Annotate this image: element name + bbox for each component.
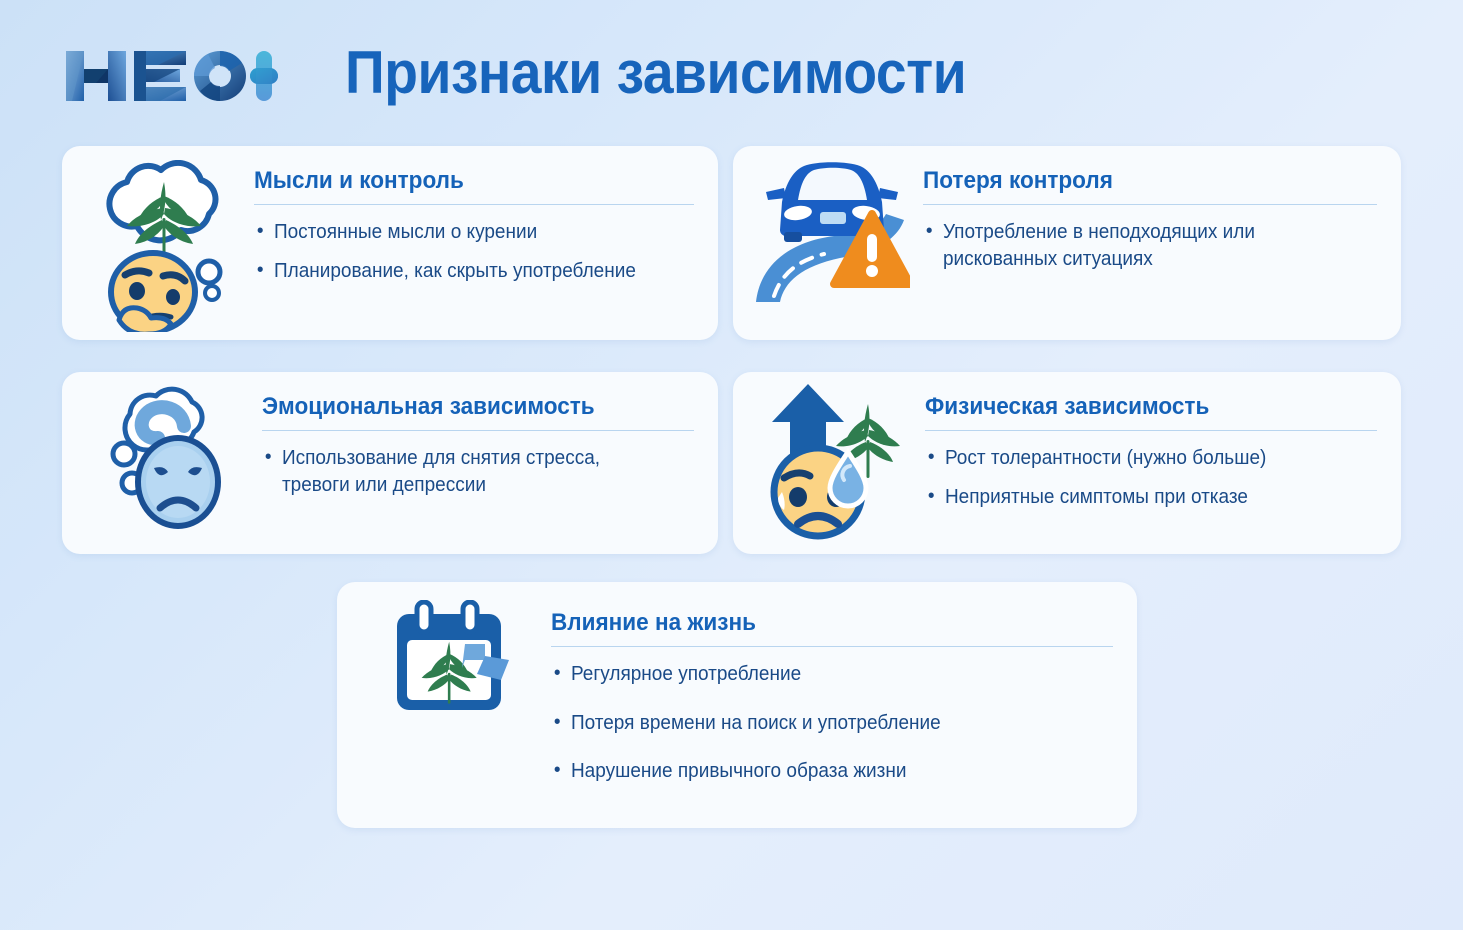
infographic-page: Признаки зависимости [0, 0, 1463, 930]
bullet-list: Рост толерантности (нужно больше) Неприя… [925, 445, 1377, 510]
thinking-face-with-cannabis-thought-icon [62, 146, 248, 332]
card-title: Потеря контроля [923, 168, 1350, 194]
card-loss-of-control[interactable]: Потеря контроля Употребление в неподходя… [733, 146, 1401, 340]
list-item: Планирование, как скрыть употребление [254, 258, 672, 284]
bullet-list: Использование для снятия стресса, тревог… [262, 445, 694, 498]
list-item: Постоянные мысли о курении [254, 219, 672, 245]
card-thoughts-control[interactable]: Мысли и контроль Постоянные мысли о куре… [62, 146, 718, 340]
list-item: Использование для снятия стресса, тревог… [262, 445, 672, 498]
title-divider [923, 204, 1377, 205]
arrow-up-leaf-sweating-face-icon [733, 372, 919, 540]
bullet-list: Постоянные мысли о курении Планирование,… [254, 219, 694, 284]
car-road-warning-icon [733, 146, 917, 306]
header: Признаки зависимости [0, 0, 1463, 140]
list-item: Употребление в неподходящих или рискован… [923, 219, 1354, 272]
list-item: Рост толерантности (нужно больше) [925, 445, 1354, 471]
card-body: Эмоциональная зависимость Использование … [256, 372, 718, 498]
card-title: Мысли и контроль [254, 168, 668, 194]
title-divider [262, 430, 694, 431]
card-body: Потеря контроля Употребление в неподходя… [917, 146, 1401, 272]
card-body: Мысли и контроль Постоянные мысли о куре… [248, 146, 718, 284]
calendar-cannabis-icon [337, 582, 537, 716]
card-physical-dependency[interactable]: Физическая зависимость Рост толерантност… [733, 372, 1401, 554]
card-title: Физическая зависимость [925, 394, 1350, 420]
card-body: Влияние на жизнь Регулярное употребление… [537, 582, 1137, 785]
title-divider [925, 430, 1377, 431]
list-item: Регулярное употребление [551, 661, 1085, 687]
page-title: Признаки зависимости [345, 38, 966, 107]
sad-blue-face-thought-icon [62, 372, 256, 534]
list-item: Неприятные симптомы при отказе [925, 484, 1354, 510]
card-title: Эмоциональная зависимость [262, 394, 668, 420]
card-life-impact[interactable]: Влияние на жизнь Регулярное употребление… [337, 582, 1137, 828]
bullet-list: Употребление в неподходящих или рискован… [923, 219, 1377, 272]
title-divider [551, 646, 1113, 647]
card-emotional-dependency[interactable]: Эмоциональная зависимость Использование … [62, 372, 718, 554]
card-body: Физическая зависимость Рост толерантност… [919, 372, 1401, 510]
card-title: Влияние на жизнь [551, 610, 1079, 636]
list-item: Потеря времени на поиск и употребление [551, 710, 1085, 736]
neo-plus-logo [62, 43, 280, 109]
bullet-list: Регулярное употребление Потеря времени н… [551, 661, 1113, 784]
list-item: Нарушение привычного образа жизни [551, 758, 1085, 784]
title-divider [254, 204, 694, 205]
